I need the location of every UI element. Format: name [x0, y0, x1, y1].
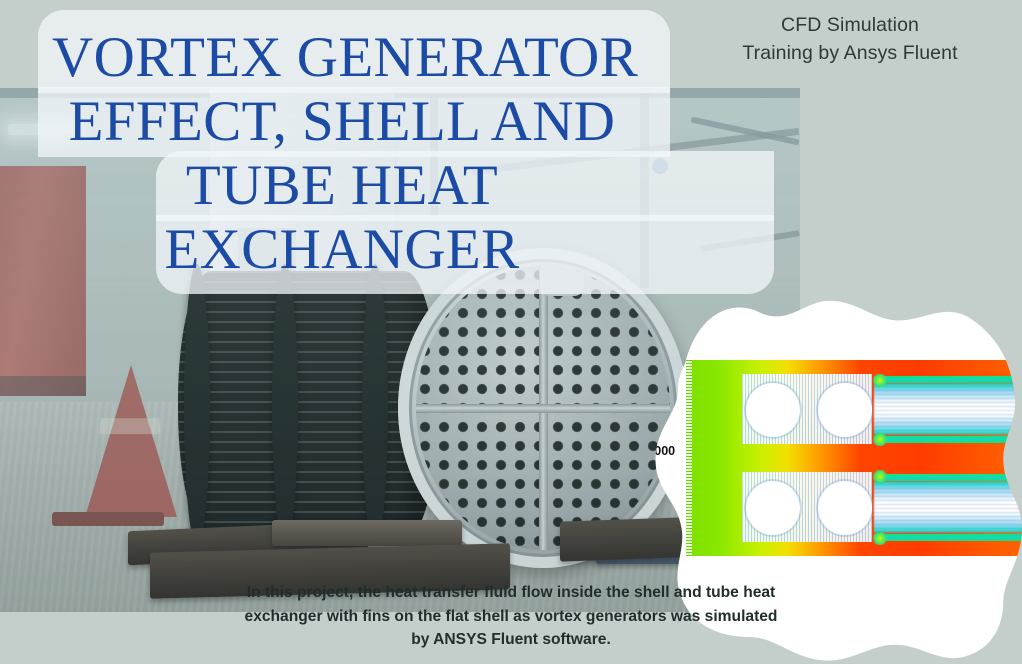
contour-tube	[746, 481, 800, 535]
bottom-caption-line3: by ANSYS Fluent software.	[22, 628, 1000, 652]
bottom-caption: In this project, the heat transfer fluid…	[0, 581, 1022, 652]
contour-vortex-generator	[872, 433, 888, 446]
title-line-3: TUBE HEAT	[32, 154, 652, 218]
contour-channel-top	[686, 360, 1022, 458]
colorbar-label-1: 00	[654, 378, 668, 392]
bottom-caption-line1: In this project, the heat transfer fluid…	[22, 581, 1000, 605]
contour-wake	[874, 382, 1022, 437]
cfd-contour-plot	[686, 360, 1022, 556]
contour-wake	[874, 480, 1022, 535]
page-title: VORTEX GENERATOR EFFECT, SHELL AND TUBE …	[32, 26, 652, 282]
title-line-4: EXCHANGER	[32, 218, 652, 282]
contour-tube	[746, 383, 800, 437]
header-caption-line1: CFD Simulation	[700, 12, 1000, 40]
contour-tube	[818, 481, 872, 535]
bottom-caption-line2: exchanger with fins on the flat shell as…	[22, 605, 1000, 629]
contour-tube	[818, 383, 872, 437]
contour-shear-layer	[874, 534, 1022, 541]
contour-inlet-edge	[686, 360, 692, 556]
contour-vortex-generator	[872, 532, 888, 545]
contour-vortex-generator	[872, 374, 888, 387]
contour-channel-bottom	[686, 458, 1022, 556]
title-line-1: VORTEX GENERATOR	[32, 26, 652, 90]
contour-vortex-generator	[872, 470, 888, 483]
title-line-2: EFFECT, SHELL AND	[32, 90, 652, 154]
header-caption: CFD Simulation Training by Ansys Fluent	[700, 12, 1000, 67]
poster-canvas: CFD Simulation Training by Ansys Fluent …	[0, 0, 1022, 664]
contour-shear-layer	[874, 436, 1022, 443]
header-caption-line2: Training by Ansys Fluent	[700, 40, 1000, 68]
